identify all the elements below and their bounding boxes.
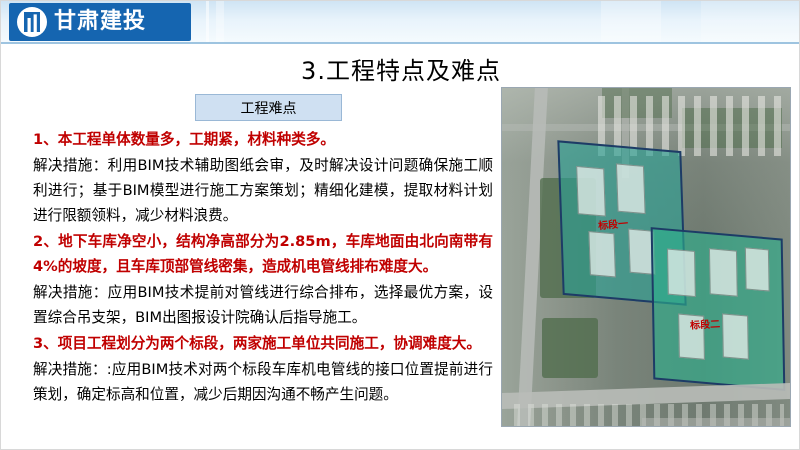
parcel-label-1: 标段一 <box>597 215 628 233</box>
parcel-area-2 <box>651 227 786 391</box>
company-logo: 甘肃建投 <box>9 3 191 41</box>
difficulty-item-3-answer: 解决措施：:应用BIM技术对两个标段车库机电管线的接口位置提前进行策划，确定标高… <box>33 357 493 407</box>
site-aerial-photo: 标段一 标段二 <box>501 87 791 427</box>
header-stripe <box>216 1 224 43</box>
company-logo-text: 甘肃建投 <box>54 7 146 37</box>
difficulty-item-1-question: 1、本工程单体数量多，工期紧，材料种类多。 <box>33 127 493 152</box>
difficulty-item-1-answer: 解决措施：利用BIM技术辅助图纸会审，及时解决设计问题确保施工顺利进行；基于BI… <box>33 153 493 228</box>
difficulty-item-2-question: 2、地下车库净空小，结构净高部分为2.85m，车库地面由北向南带有4%的坡度，且… <box>33 229 493 279</box>
header-stripe <box>601 1 661 43</box>
difficulty-item-2-answer: 解决措施：应用BIM技术提前对管线进行综合排布，选择最优方案，设置综合吊支架，B… <box>33 280 493 330</box>
difficulty-item-3-question: 3、项目工程划分为两个标段，两家施工单位共同施工，协调难度大。 <box>33 331 493 356</box>
header-stripe <box>206 1 209 43</box>
slide: 甘肃建投 3.工程特点及难点 工程难点 1、本工程单体数量多，工期紧，材料种类多… <box>0 0 800 450</box>
greenery <box>542 318 598 378</box>
section-tag: 工程难点 <box>195 94 342 121</box>
page-title: 3.工程特点及难点 <box>1 51 800 86</box>
company-emblem-icon <box>17 7 47 37</box>
content-body: 1、本工程单体数量多，工期紧，材料种类多。 解决措施：利用BIM技术辅助图纸会审… <box>33 127 493 408</box>
parcel-label-2: 标段二 <box>690 315 721 332</box>
header-stripe <box>701 1 800 43</box>
road <box>642 418 791 426</box>
header-divider <box>1 42 800 44</box>
